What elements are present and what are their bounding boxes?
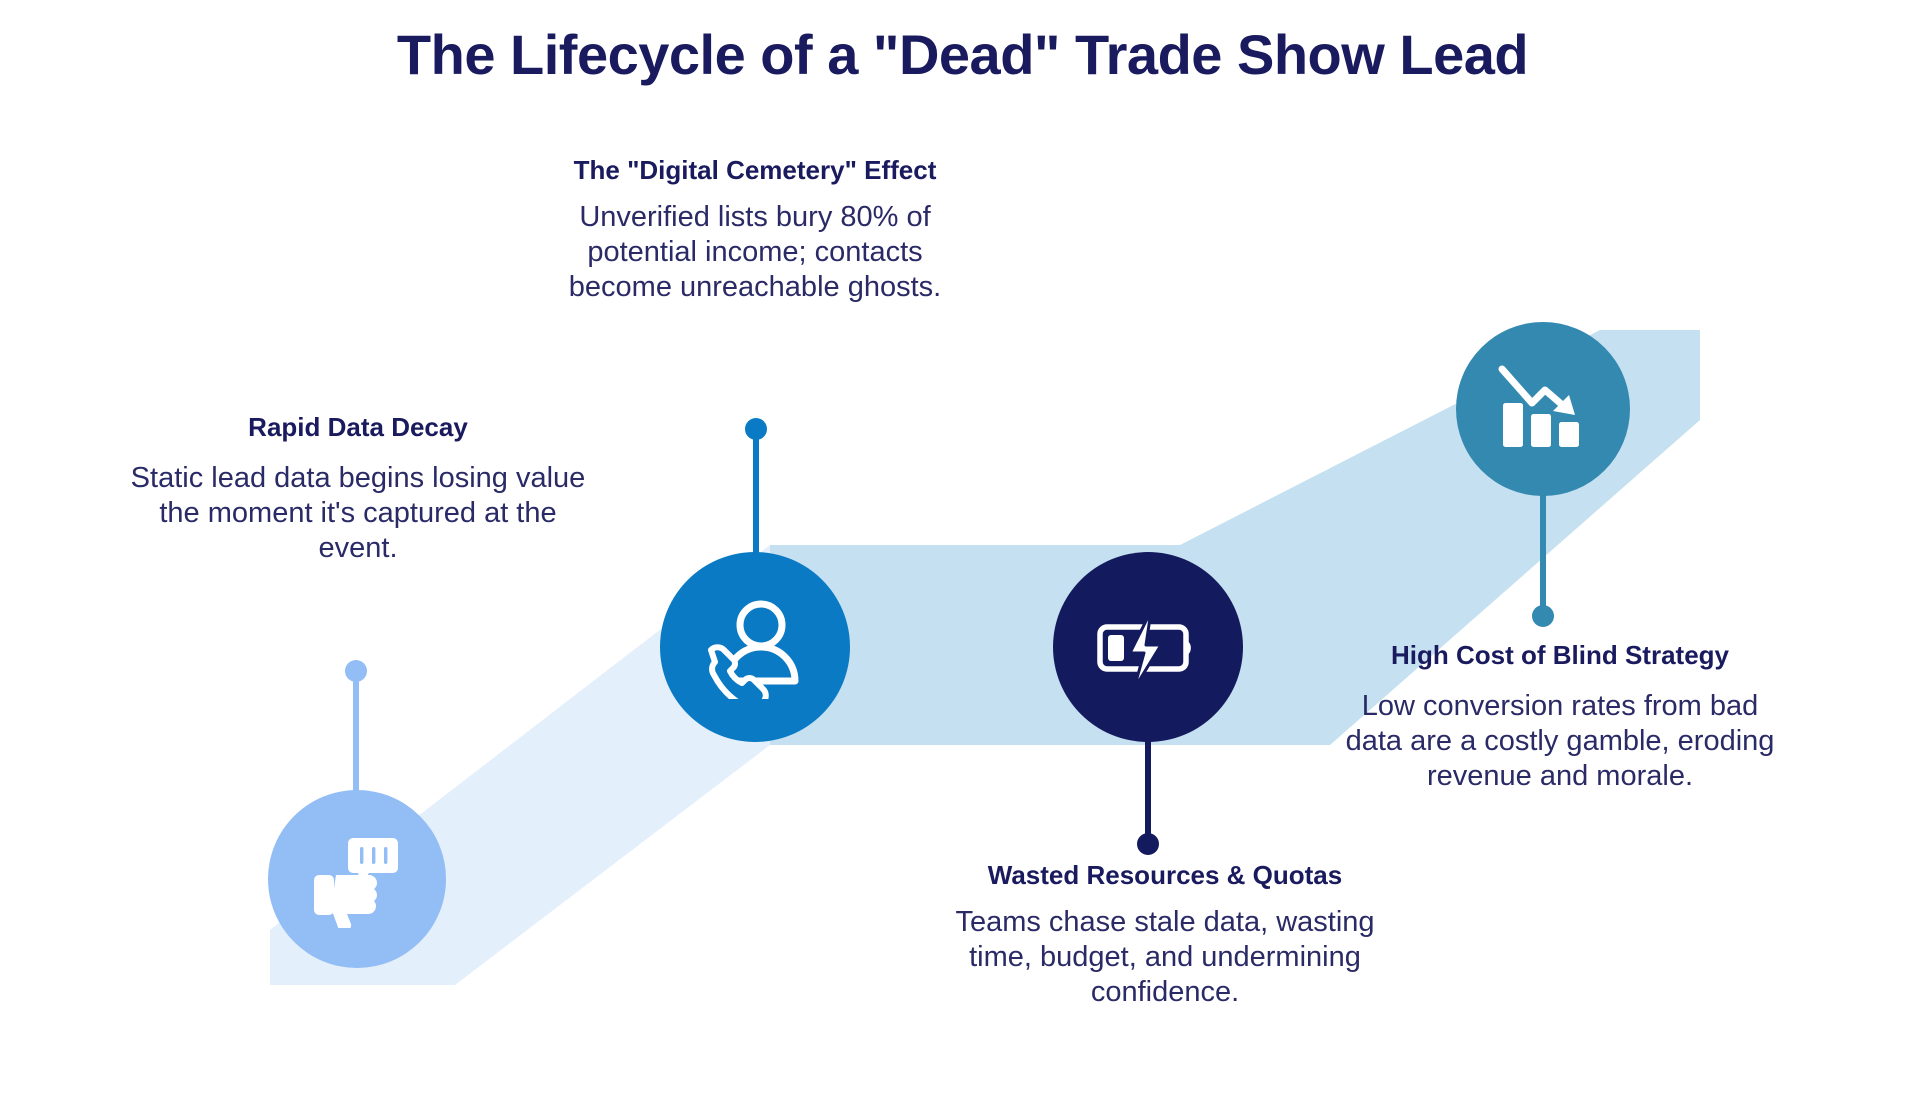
infographic-canvas: The Lifecycle of a "Dead" Trade Show Lea… bbox=[0, 0, 1925, 1100]
stage-label-rapid-data-decay: Rapid Data Decay Static lead data begins… bbox=[128, 412, 588, 567]
stage-body: Teams chase stale data, wasting time, bu… bbox=[950, 905, 1380, 1011]
stage-body: Static lead data begins losing value the… bbox=[128, 461, 588, 567]
stage-heading: High Cost of Blind Strategy bbox=[1330, 640, 1790, 671]
connector-dot-1 bbox=[345, 660, 367, 682]
declining-bar-chart-arrow-icon bbox=[1495, 361, 1591, 457]
stage-node-high-cost[interactable] bbox=[1456, 322, 1630, 496]
stage-heading: The "Digital Cemetery" Effect bbox=[535, 155, 975, 186]
connector-dot-3 bbox=[1137, 833, 1159, 855]
stage-node-rapid-data-decay[interactable] bbox=[268, 790, 446, 968]
connector-dot-4 bbox=[1532, 605, 1554, 627]
stage-body: Low conversion rates from bad data are a… bbox=[1330, 689, 1790, 795]
connector-stem-4 bbox=[1540, 480, 1546, 620]
stage-heading: Wasted Resources & Quotas bbox=[950, 860, 1380, 891]
stage-node-digital-cemetery[interactable] bbox=[660, 552, 850, 742]
person-phone-contact-icon bbox=[703, 595, 807, 699]
connector-stem-2 bbox=[753, 432, 759, 562]
stage-label-high-cost: High Cost of Blind Strategy Low conversi… bbox=[1330, 640, 1790, 795]
low-battery-bolt-icon bbox=[1094, 593, 1202, 701]
stage-label-digital-cemetery: The "Digital Cemetery" Effect Unverified… bbox=[535, 155, 975, 306]
connector-dot-2 bbox=[745, 418, 767, 440]
stage-heading: Rapid Data Decay bbox=[128, 412, 588, 443]
thumbs-down-speech-bubble-icon bbox=[308, 830, 406, 928]
stage-node-wasted-resources[interactable] bbox=[1053, 552, 1243, 742]
stage-body: Unverified lists bury 80% of potential i… bbox=[535, 200, 975, 306]
stage-label-wasted-resources: Wasted Resources & Quotas Teams chase st… bbox=[950, 860, 1380, 1011]
